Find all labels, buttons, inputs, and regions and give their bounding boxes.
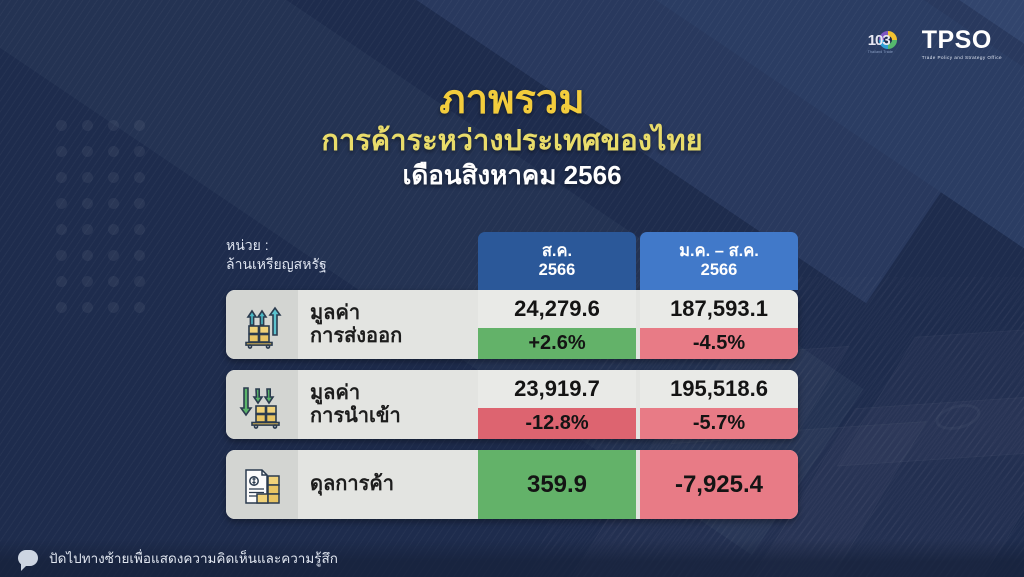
column-header-ytd-line-1: ม.ค. – ส.ค. (679, 242, 759, 261)
table-header-row: หน่วย : ล้านเหรียญสหรัฐ ส.ค. 2566 ม.ค. –… (226, 232, 798, 290)
logo-103-text: 103 (868, 32, 890, 49)
row-label-import: มูลค่า การนำเข้า (298, 370, 474, 439)
title-line-3: เดือนสิงหาคม 2566 (0, 159, 1024, 193)
row-label-balance-line-1: ดุลการค้า (310, 473, 474, 495)
cell-import-month-change: -12.8% (478, 408, 636, 439)
cell-export-month-change: +2.6% (478, 328, 636, 359)
cell-import-month: 23,919.7 -12.8% (478, 370, 636, 439)
row-label-export: มูลค่า การส่งออก (298, 290, 474, 359)
cell-export-ytd-value: 187,593.1 (640, 290, 798, 328)
cell-import-ytd: 195,518.6 -5.7% (640, 370, 798, 439)
title-line-1: ภาพรวม (0, 78, 1024, 123)
cell-import-ytd-value: 195,518.6 (640, 370, 798, 408)
cell-export-month: 24,279.6 +2.6% (478, 290, 636, 359)
table-row: มูลค่า การส่งออก 24,279.6 +2.6% 187,593.… (226, 290, 798, 359)
column-header-month-line-1: ส.ค. (542, 242, 572, 261)
cell-balance-month: 359.9 (478, 450, 636, 519)
row-label-import-line-2: การนำเข้า (310, 405, 474, 427)
table-row: ดุลการค้า 359.9 -7,925.4 (226, 450, 798, 519)
logo-tpso-tagline: Trade Policy and Strategy Office (922, 55, 1002, 60)
title-line-2: การค้าระหว่างประเทศของไทย (0, 123, 1024, 159)
export-pallet-up-icon (226, 290, 298, 359)
logo-group: 103 Thailand Trade TPSO Trade Policy and… (868, 28, 1002, 60)
table-row: มูลค่า การนำเข้า 23,919.7 -12.8% 195,518… (226, 370, 798, 439)
row-label-import-line-1: มูลค่า (310, 382, 474, 404)
page-title: ภาพรวม การค้าระหว่างประเทศของไทย เดือนสิ… (0, 78, 1024, 193)
row-label-balance: ดุลการค้า (298, 450, 474, 519)
unit-label: หน่วย : ล้านเหรียญสหรัฐ (226, 232, 474, 290)
logo-103-icon: 103 Thailand Trade (868, 29, 908, 59)
trade-summary-table: หน่วย : ล้านเหรียญสหรัฐ ส.ค. 2566 ม.ค. –… (226, 232, 798, 530)
trade-balance-invoice-icon (226, 450, 298, 519)
logo-103-subtext: Thailand Trade (868, 50, 893, 54)
cell-export-month-value: 24,279.6 (478, 290, 636, 328)
column-header-ytd-line-2: 2566 (701, 261, 738, 280)
row-label-export-line-2: การส่งออก (310, 325, 474, 347)
speech-bubble-icon[interactable] (18, 550, 38, 566)
logo-tpso: TPSO Trade Policy and Strategy Office (922, 28, 1002, 60)
cell-balance-ytd: -7,925.4 (640, 450, 798, 519)
column-header-month: ส.ค. 2566 (478, 232, 636, 290)
import-pallet-down-icon (226, 370, 298, 439)
cell-import-ytd-change: -5.7% (640, 408, 798, 439)
cell-import-month-value: 23,919.7 (478, 370, 636, 408)
unit-label-line-2: ล้านเหรียญสหรัฐ (226, 255, 474, 274)
column-header-month-line-2: 2566 (539, 261, 576, 280)
cell-balance-ytd-value: -7,925.4 (640, 450, 798, 519)
cell-export-ytd: 187,593.1 -4.5% (640, 290, 798, 359)
cell-export-ytd-change: -4.5% (640, 328, 798, 359)
column-header-ytd: ม.ค. – ส.ค. 2566 (640, 232, 798, 290)
cell-balance-month-value: 359.9 (478, 450, 636, 519)
footer-bar: ปัดไปทางซ้ายเพื่อแสดงความคิดเห็นและความร… (0, 539, 1024, 577)
row-label-export-line-1: มูลค่า (310, 302, 474, 324)
unit-label-line-1: หน่วย : (226, 236, 474, 255)
footer-caption: ปัดไปทางซ้ายเพื่อแสดงความคิดเห็นและความร… (49, 547, 338, 569)
logo-tpso-word: TPSO (922, 28, 1002, 53)
